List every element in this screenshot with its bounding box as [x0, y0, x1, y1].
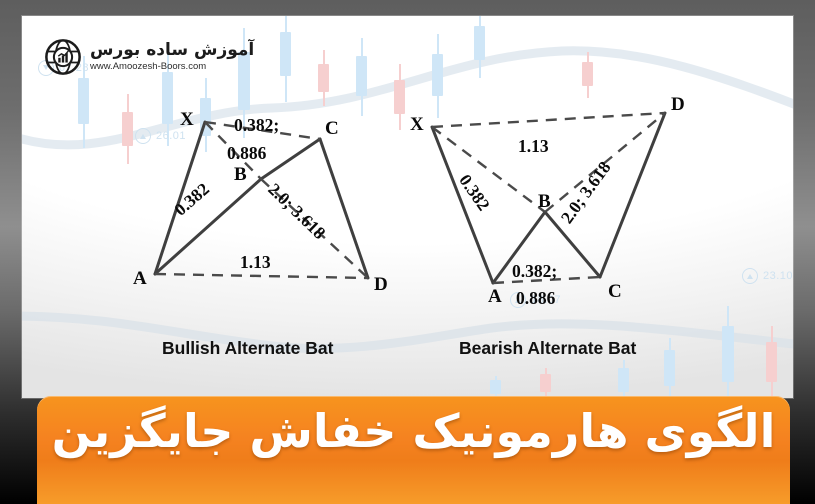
vertex-label-c-bull: C — [325, 118, 339, 140]
vertex-label-d-bull: D — [374, 274, 388, 296]
banner-title: الگوی هارمونیک خفاش جایگزین — [37, 404, 790, 458]
ratio-label-ad-bull: 1.13 — [240, 252, 271, 273]
vertex-label-x-bull: X — [180, 109, 194, 131]
vertex-label-a-bear: A — [488, 286, 502, 308]
content-card: 07.28 26.01 18.07 23.10 — [22, 16, 793, 398]
ratio-label-ac-bottom-bear: 0.886 — [516, 288, 555, 309]
vertex-label-b-bear: B — [538, 191, 551, 213]
ratio-label-xc-bottom-bull: 0.886 — [227, 143, 266, 164]
globe-chart-icon — [44, 38, 82, 76]
vertex-label-c-bear: C — [608, 281, 622, 303]
vertex-label-b-bull: B — [234, 164, 247, 186]
brand-name: آموزش ساده بورس — [90, 42, 254, 59]
caption-bearish: Bearish Alternate Bat — [459, 338, 636, 359]
screenshot-root: 07.28 26.01 18.07 23.10 — [0, 0, 815, 504]
brand-logo: آموزش ساده بورس www.Amoozesh-Boors.com — [44, 38, 254, 76]
title-banner: الگوی هارمونیک خفاش جایگزین — [37, 396, 790, 504]
caption-bullish: Bullish Alternate Bat — [162, 338, 333, 359]
vertex-label-d-bear: D — [671, 94, 685, 116]
ratio-label-xc-top-bull: 0.382; — [234, 115, 279, 136]
ratio-label-ac-top-bear: 0.382; — [512, 261, 557, 282]
ratio-label-xd-bear: 1.13 — [518, 136, 549, 157]
vertex-label-a-bull: A — [133, 268, 147, 290]
vertex-label-x-bear: X — [410, 114, 424, 136]
brand-url: www.Amoozesh-Boors.com — [90, 62, 254, 72]
